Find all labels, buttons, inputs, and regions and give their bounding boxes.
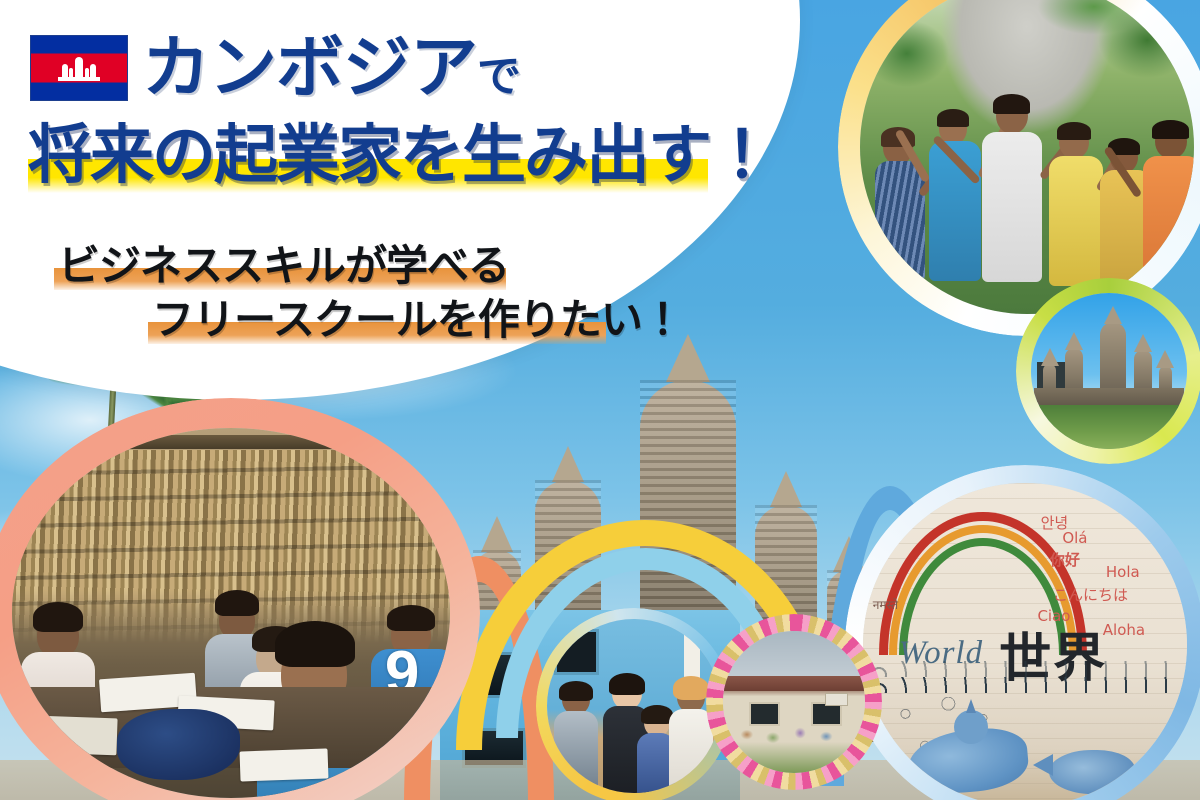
title-country: カンボジア [142,30,477,106]
photo-inner: CORCOVA [547,619,721,793]
photo-inner [1031,293,1187,449]
mural-whale-icon [1049,750,1135,794]
photo-classroom: 9 [0,398,480,800]
greeting-italian: Ciao [1037,607,1070,625]
greeting-hawaiian: Aloha [1103,621,1145,639]
photo-group: CORCOVA [536,608,732,800]
mural-bird-icon [908,710,1048,792]
wall-animal-doodles [732,716,857,747]
title-line2-text: 将来の起業家を生み出す！ [28,122,772,189]
greeting-chinese: 你好 [1050,549,1080,570]
greeting-japanese: こんにちは [1053,584,1128,605]
mural-wave-line [869,661,1180,677]
angkor-wat-photo [1031,293,1187,449]
greeting-spanish: Hola [1106,563,1140,581]
mural-cactus-icon [1151,745,1171,800]
photo-inner: World 世界 नमस्ते 안녕 Olá 你好 Hola こんにちは Cia… [863,483,1187,800]
greeting-portuguese: Olá [1062,529,1087,547]
classroom-scene: 9 [12,428,450,798]
mural-wave-line [869,677,1180,693]
title-particle: で [477,52,520,101]
child-figure [980,94,1056,314]
photo-angkor-wat [1016,278,1200,464]
title-line-2: 将来の起業家を生み出す！ [28,122,772,189]
child-figure [1141,120,1194,314]
mural-greetings-group: 안녕 Olá 你好 Hola こんにちは Ciao Aloha [1025,509,1181,665]
group-photo-scene: CORCOVA [547,619,721,793]
subhead-line1-text: ビジネススキルが学べる [58,244,509,288]
person-figure [554,685,600,793]
title-line1-text: カンボジアで [142,34,520,102]
headline-block: カンボジアで 将来の起業家を生み出す！ ビジネススキルが学べる フリースクールを… [0,0,760,380]
mural-wall: World 世界 नमस्ते 안녕 Olá 你好 Hola こんにちは Cia… [863,483,1187,800]
cambodia-flag-icon [30,35,128,101]
school-bag [117,709,240,779]
photo-inner: 9 [12,428,450,798]
photo-inner [723,631,865,773]
subhead-line-2: フリースクールを作りたい！ [152,298,683,342]
subhead-line-1: ビジネススキルが学べる [58,244,509,288]
title-line-1: カンボジアで [30,34,520,102]
banner-stage: CORCOVA カンボジアで 将来の起業家を生み出す！ ビジネススキルが学べる [0,0,1200,800]
school-building-photo [723,631,865,773]
photo-school-building [706,614,882,790]
greeting-hindi: नमस्ते [873,596,898,613]
subhead-line2-text: フリースクールを作りたい！ [152,298,683,342]
worksheet-paper [239,748,328,781]
photo-world-mural: World 世界 नमस्ते 안녕 Olá 你好 Hola こんにちは Cia… [845,465,1200,800]
worksheet-paper [38,715,118,755]
photo-inner [860,0,1194,314]
